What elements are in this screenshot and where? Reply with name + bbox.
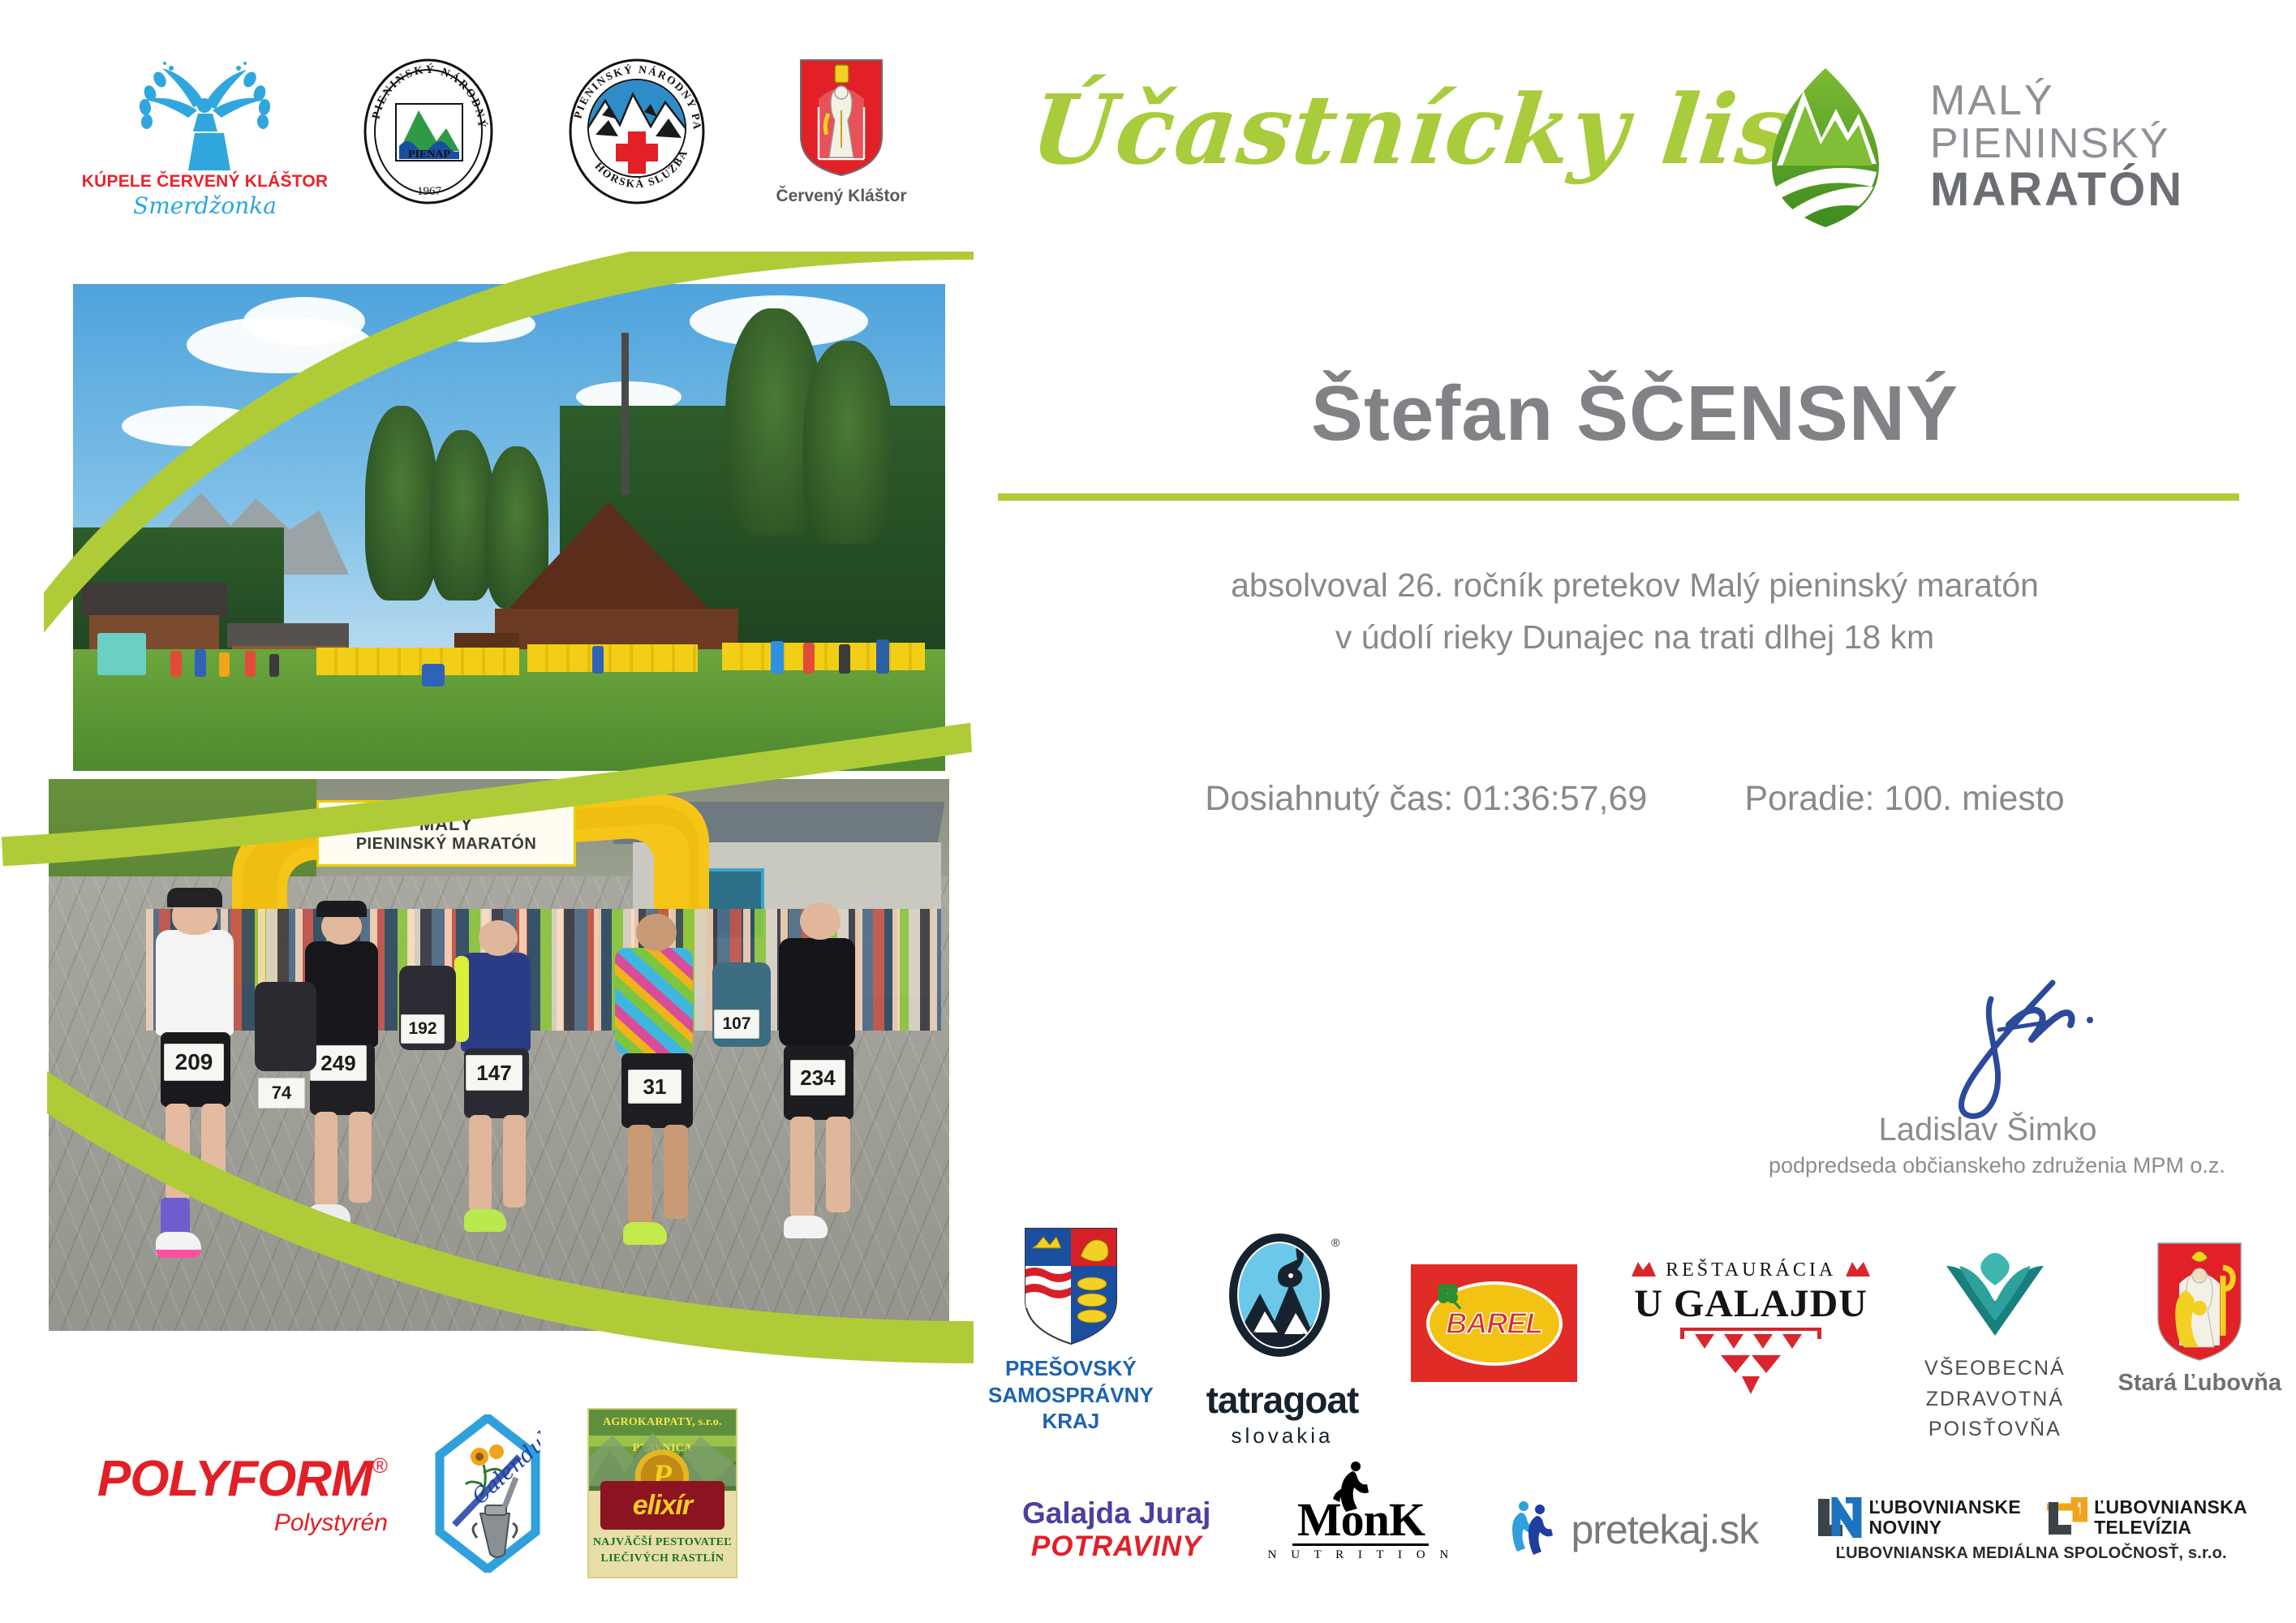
polyform-sub: Polystyrén <box>97 1509 388 1537</box>
monk-sub: N U T R I T I O N <box>1268 1548 1455 1562</box>
galajda-line-1: Galajda Juraj <box>1022 1496 1210 1530</box>
lt-mark-icon <box>2044 1497 2087 1538</box>
arch-banner: MALÝ PIENINSKÝ MARATÓN <box>316 800 576 867</box>
sponsor-monk-nutrition: MonK N U T R I T I O N <box>1268 1497 1455 1562</box>
sponsor-barel: BAREL <box>1411 1264 1577 1382</box>
partner-logo-pieninsky-narodny-park: PIENAP 1967 PIENINSKÝ NÁRODNÝ PARK <box>335 57 522 207</box>
agro-elixir-badge: elixír <box>600 1481 724 1530</box>
psk-line-3: KRAJ <box>988 1408 1154 1435</box>
folk-ornament-icon <box>1844 1260 1872 1281</box>
partner-logo-cerveny-klastor: Červený Kláštor <box>756 57 927 206</box>
teal-v-heart-icon <box>1941 1248 2049 1345</box>
sponsor-vseobecna-zdravotna-poistovna: VŠEOBECNÁ ZDRAVOTNÁ POISŤOVŇA <box>1924 1248 2066 1445</box>
athlete-name: Štefan ŠČENSNÝ <box>974 369 2296 458</box>
two-runners-icon <box>1511 1498 1561 1561</box>
svg-text:1967: 1967 <box>417 185 442 198</box>
u-galajdu-line-1: REŠTAURÁCIA <box>1666 1259 1836 1281</box>
vzp-line-1: VŠEOBECNÁ <box>1924 1354 2066 1384</box>
oval-chamois-mountain-icon: ® <box>1221 1225 1343 1371</box>
sponsor-pretekaj-sk: pretekaj.sk <box>1511 1498 1758 1561</box>
tatragoat-word: tatragoat <box>1206 1378 1359 1422</box>
circular-seal-mountain-rescue-icon: PIENINSKÝ NÁRODNÝ PARK HORSKÁ SLUŽBA <box>566 57 708 207</box>
arch-banner-line1: MALÝ <box>419 814 473 835</box>
galajda-line-2: POTRAVINY <box>1031 1530 1202 1563</box>
kupele-line1: KÚPELE ČERVENÝ KLÁŠTOR <box>82 172 329 192</box>
certificate-body: absolvoval 26. ročník pretekov Malý pien… <box>974 560 2296 663</box>
ln-line-2: NOVINY <box>1868 1518 2021 1538</box>
bib-number: 31 <box>628 1070 681 1104</box>
sponsor-tatragoat: ® tatragoat slovakia <box>1206 1225 1359 1449</box>
sponsor-polyform: POLYFORM ® Polystyrén <box>97 1450 388 1537</box>
pretekaj-word: pretekaj.sk <box>1571 1506 1758 1553</box>
polyform-word: POLYFORM <box>97 1450 372 1508</box>
vzp-line-3: POISŤOVŇA <box>1924 1414 2066 1445</box>
tatragoat-sub: slovakia <box>1232 1423 1334 1449</box>
u-galajdu-line-2: U GALAJDU <box>1634 1281 1868 1326</box>
circular-seal-pienap-icon: PIENAP 1967 PIENINSKÝ NÁRODNÝ PARK <box>362 57 496 207</box>
sponsor-row-left: POLYFORM ® Polystyrén <box>97 1371 974 1615</box>
sponsor-stara-lubovna: Stará Ľubovňa <box>2118 1240 2281 1397</box>
bib-number: 74 <box>258 1078 305 1109</box>
finish-time: Dosiahnutý čas: 01:36:57,69 <box>1205 779 1647 819</box>
result-stats: Dosiahnutý čas: 01:36:57,69 Poradie: 100… <box>974 779 2296 819</box>
partner-logo-strip: KÚPELE ČERVENÝ KLÁŠTOR Smerdžonka PIENAP… <box>97 57 957 243</box>
signature-block: Ladislav Šimko podpredseda občianskeho z… <box>1769 986 2207 1178</box>
rank-place: Poradie: 100. miesto <box>1744 779 2064 819</box>
accent-rule <box>998 493 2239 501</box>
water-angel-figure-icon <box>118 57 292 170</box>
sponsor-lubovnianska-medialna-spolocnost: ĽUBOVNIANSKE NOVINY ĽUBOVNIANSKA TELEVÍZ… <box>1815 1497 2247 1563</box>
bib-number: 147 <box>466 1055 522 1091</box>
bib-number: 192 <box>401 1014 445 1044</box>
lubovnianska-medialna-caption: ĽUBOVNIANSKA MEDIÁLNA SPOLOČNOSŤ, s.r.o. <box>1836 1544 2227 1563</box>
sponsor-u-galajdu: REŠTAURÁCIA U GALAJDU <box>1630 1259 1872 1397</box>
quartered-shield-icon <box>1022 1225 1120 1347</box>
certificate-content: Štefan ŠČENSNÝ absolvoval 26. ročník pre… <box>974 0 2296 1623</box>
sponsor-row-secondary: Galajda Juraj POTRAVINY MonK N U T R I T… <box>974 1461 2296 1599</box>
barel-box: BAREL <box>1411 1264 1577 1382</box>
lt-line-1: ĽUBOVNIANSKA <box>2094 1497 2247 1518</box>
sponsor-agrokarpaty-elixir: AGROKARPATY, s.r.o. PLAVNICA P elixír NA… <box>587 1408 737 1578</box>
sponsor-galajda-juraj-potraviny: Galajda Juraj POTRAVINY <box>1022 1496 1210 1563</box>
ln-mark-icon <box>1815 1497 1862 1538</box>
race-start-photo: MALÝ PIENINSKÝ MARATÓN 209 <box>49 779 949 1331</box>
shield-bishop-icon <box>2155 1240 2244 1363</box>
bib-number: 234 <box>790 1060 845 1096</box>
sponsor-presovsky-samospravny-kraj: PREŠOVSKÝ SAMOSPRÁVNY KRAJ <box>988 1225 1154 1435</box>
agro-bottom-line-1: NAJVÄČŠÍ PESTOVATEĽ <box>589 1536 736 1549</box>
svg-text:PIENAP: PIENAP <box>407 149 450 161</box>
svg-text:®: ® <box>1331 1236 1340 1249</box>
clover-icon <box>1434 1281 1462 1309</box>
lubovnianska-televizia-caption: ĽUBOVNIANSKA TELEVÍZIA <box>2094 1497 2247 1538</box>
lt-line-2: TELEVÍZIA <box>2094 1518 2247 1538</box>
sponsor-calendula: Calendula <box>435 1414 540 1573</box>
photo-panel: MALÝ PIENINSKÝ MARATÓN 209 <box>0 252 974 1388</box>
signature-name: Ladislav Šimko <box>1769 1112 2207 1148</box>
running-monk-icon <box>1331 1460 1377 1513</box>
arch-banner-line2: PIENINSKÝ MARATÓN <box>356 835 537 854</box>
partner-logo-horska-sluzba: PIENINSKÝ NÁRODNÝ PARK HORSKÁ SLUŽBA <box>546 57 729 207</box>
handwritten-signature-icon <box>1931 970 2142 1124</box>
monk-rule <box>1292 1543 1429 1546</box>
certificate-page: KÚPELE ČERVENÝ KLÁŠTOR Smerdžonka PIENAP… <box>0 0 2296 1623</box>
agro-elixir-word: elixír <box>633 1490 692 1522</box>
lubovnianske-noviny-caption: ĽUBOVNIANSKE NOVINY <box>1868 1497 2021 1538</box>
hexagon-mortar-flower-icon: Calendula <box>435 1414 540 1573</box>
bib-number: 107 <box>714 1010 759 1039</box>
folk-ornament-icon <box>1674 1326 1828 1397</box>
barel-word: BAREL <box>1446 1307 1542 1341</box>
sponsor-row-primary: PREŠOVSKÝ SAMOSPRÁVNY KRAJ <box>974 1225 2296 1453</box>
psk-line-1: PREŠOVSKÝ <box>988 1355 1154 1382</box>
signature-role: podpredseda občianskeho združenia MPM o.… <box>1769 1153 2207 1178</box>
event-venue-photo <box>73 284 945 771</box>
stara-lubovna-caption: Stará Ľubovňa <box>2118 1370 2281 1397</box>
psk-line-2: SAMOSPRÁVNY <box>988 1382 1154 1409</box>
agro-bottom-line-2: LIEČIVÝCH RASTLÍN <box>589 1552 736 1565</box>
partner-logo-kupele-cerveny-klastor: KÚPELE ČERVENÝ KLÁŠTOR Smerdžonka <box>97 57 312 219</box>
body-line-2: v údolí rieky Dunajec na trati dlhej 18 … <box>974 612 2296 664</box>
folk-ornament-icon <box>1630 1260 1658 1281</box>
ln-line-1: ĽUBOVNIANSKE <box>1868 1497 2021 1518</box>
vzp-caption: VŠEOBECNÁ ZDRAVOTNÁ POISŤOVŇA <box>1924 1354 2066 1445</box>
barel-oval: BAREL <box>1426 1281 1563 1366</box>
shield-monk-icon <box>798 57 885 179</box>
vzp-line-2: ZDRAVOTNÁ <box>1924 1384 2066 1415</box>
psk-caption: PREŠOVSKÝ SAMOSPRÁVNY KRAJ <box>988 1355 1154 1435</box>
bib-number: 209 <box>164 1044 224 1081</box>
polyform-registered: ® <box>372 1453 388 1479</box>
body-line-1: absolvoval 26. ročník pretekov Malý pien… <box>974 560 2296 612</box>
kupele-line2: Smerdžonka <box>133 192 277 219</box>
cerveny-klastor-caption: Červený Kláštor <box>776 187 906 206</box>
